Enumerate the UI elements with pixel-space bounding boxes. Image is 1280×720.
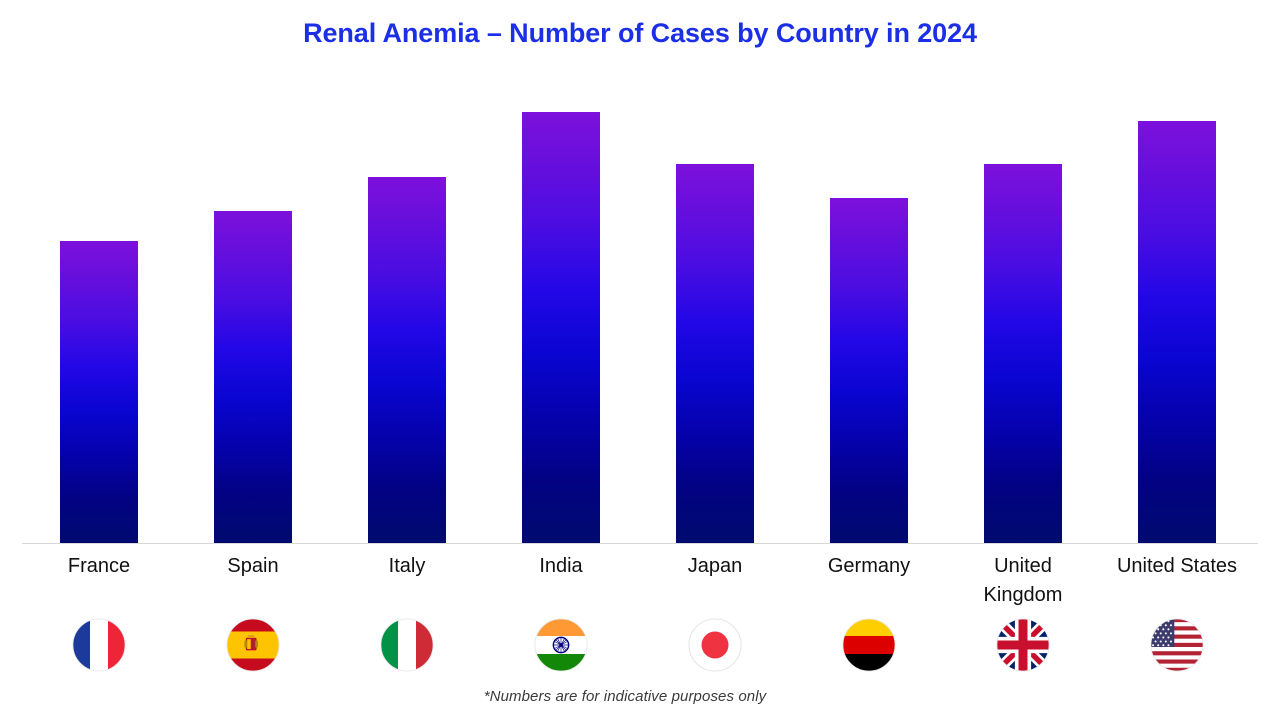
category-label-united-kingdom: UnitedKingdom bbox=[946, 552, 1100, 610]
category-label-line: France bbox=[22, 552, 176, 581]
bar-united-kingdom[interactable] bbox=[984, 164, 1062, 543]
bar-slot bbox=[176, 95, 330, 543]
bar-slot bbox=[22, 95, 176, 543]
bar-spain[interactable] bbox=[214, 211, 292, 543]
category-label-line: United bbox=[946, 552, 1100, 581]
flag-japan-icon bbox=[688, 618, 742, 672]
flag-slot bbox=[22, 618, 176, 678]
bar-germany[interactable] bbox=[830, 198, 908, 543]
page-title: Renal Anemia – Number of Cases by Countr… bbox=[0, 18, 1280, 49]
category-label-line: Kingdom bbox=[946, 581, 1100, 610]
chart-footnote-text: *Numbers are for indicative purposes onl… bbox=[484, 688, 767, 705]
bar-india[interactable] bbox=[522, 112, 600, 543]
category-labels-row: FranceSpainItalyIndiaJapanGermanyUnitedK… bbox=[0, 552, 1280, 614]
category-label-germany: Germany bbox=[792, 552, 946, 581]
bar-france[interactable] bbox=[60, 241, 138, 543]
flag-france-icon bbox=[72, 618, 126, 672]
bar-chart: Renal Anemia – Number of Cases by Countr… bbox=[0, 0, 1280, 720]
category-label-line: India bbox=[484, 552, 638, 581]
flag-slot bbox=[330, 618, 484, 678]
category-label-india: India bbox=[484, 552, 638, 581]
bar-japan[interactable] bbox=[676, 164, 754, 543]
bar-slot bbox=[946, 95, 1100, 543]
bar-italy[interactable] bbox=[368, 177, 446, 543]
category-label-united-states: United States bbox=[1100, 552, 1254, 581]
flag-slot bbox=[484, 618, 638, 678]
bar-slot bbox=[330, 95, 484, 543]
category-label-line: Japan bbox=[638, 552, 792, 581]
bar-slot bbox=[792, 95, 946, 543]
category-label-spain: Spain bbox=[176, 552, 330, 581]
flag-spain-icon bbox=[226, 618, 280, 672]
flag-slot bbox=[638, 618, 792, 678]
bar-slot bbox=[484, 95, 638, 543]
flag-slot bbox=[1100, 618, 1254, 678]
flag-icons-row bbox=[0, 618, 1280, 678]
bar-united-states[interactable] bbox=[1138, 121, 1216, 543]
category-label-france: France bbox=[22, 552, 176, 581]
category-label-line: United States bbox=[1100, 552, 1254, 581]
flag-united-states-icon bbox=[1150, 618, 1204, 672]
category-label-japan: Japan bbox=[638, 552, 792, 581]
x-axis-line bbox=[22, 543, 1258, 544]
flag-india-icon bbox=[534, 618, 588, 672]
flag-slot bbox=[176, 618, 330, 678]
flag-germany-icon bbox=[842, 618, 896, 672]
plot-area bbox=[0, 95, 1280, 543]
category-label-line: Spain bbox=[176, 552, 330, 581]
category-label-line: Italy bbox=[330, 552, 484, 581]
category-label-line: Germany bbox=[792, 552, 946, 581]
category-label-italy: Italy bbox=[330, 552, 484, 581]
bar-slot bbox=[638, 95, 792, 543]
flag-italy-icon bbox=[380, 618, 434, 672]
flag-slot bbox=[946, 618, 1100, 678]
flag-united-kingdom-icon bbox=[996, 618, 1050, 672]
bar-slot bbox=[1100, 95, 1254, 543]
flag-slot bbox=[792, 618, 946, 678]
chart-footnote: *Numbers are for indicative purposes onl… bbox=[0, 688, 1280, 705]
